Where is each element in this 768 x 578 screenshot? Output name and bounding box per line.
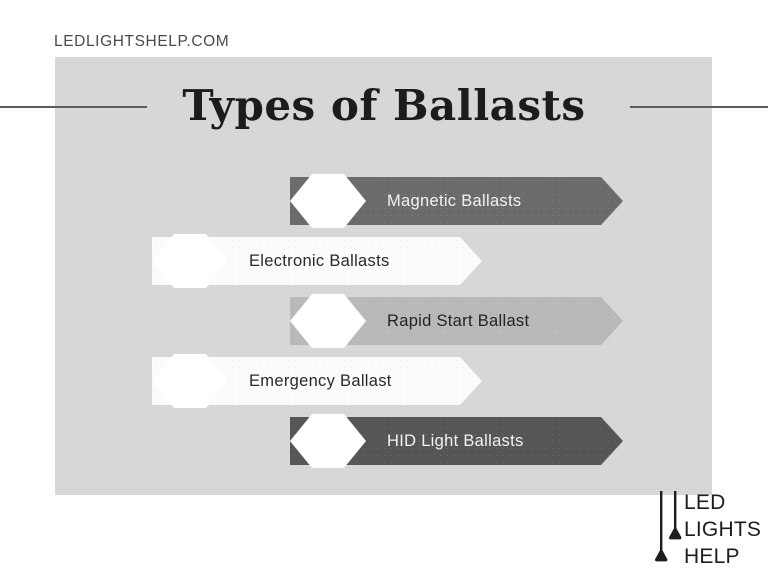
ballast-type-row[interactable]: Electronic Ballasts <box>152 237 482 285</box>
ballast-type-label: Rapid Start Ballast <box>387 297 529 345</box>
title-rule-left <box>0 106 147 108</box>
brand-logo: LED LIGHTS HELP <box>652 489 764 573</box>
infographic-canvas: LEDLIGHTSHELP.COM Types of Ballasts Magn… <box>0 0 768 576</box>
pendant-lamp-icon <box>652 489 686 573</box>
ballast-type-row[interactable]: Rapid Start Ballast <box>290 297 623 345</box>
brand-logo-line-2: LIGHTS <box>684 516 766 543</box>
ballast-type-label: Magnetic Ballasts <box>387 177 521 225</box>
brand-logo-line-1: LED <box>684 489 766 516</box>
title-rule-right <box>630 106 768 108</box>
ballast-type-row[interactable]: HID Light Ballasts <box>290 417 623 465</box>
ballast-type-label: Emergency Ballast <box>249 357 392 405</box>
ballast-type-row[interactable]: Magnetic Ballasts <box>290 177 623 225</box>
ballast-type-label: Electronic Ballasts <box>249 237 390 285</box>
ballast-type-row[interactable]: Emergency Ballast <box>152 357 482 405</box>
ballast-type-label: HID Light Ballasts <box>387 417 524 465</box>
brand-logo-text: LED LIGHTS HELP <box>684 489 766 573</box>
brand-logo-line-3: HELP <box>684 543 766 570</box>
site-url-label: LEDLIGHTSHELP.COM <box>54 33 229 51</box>
